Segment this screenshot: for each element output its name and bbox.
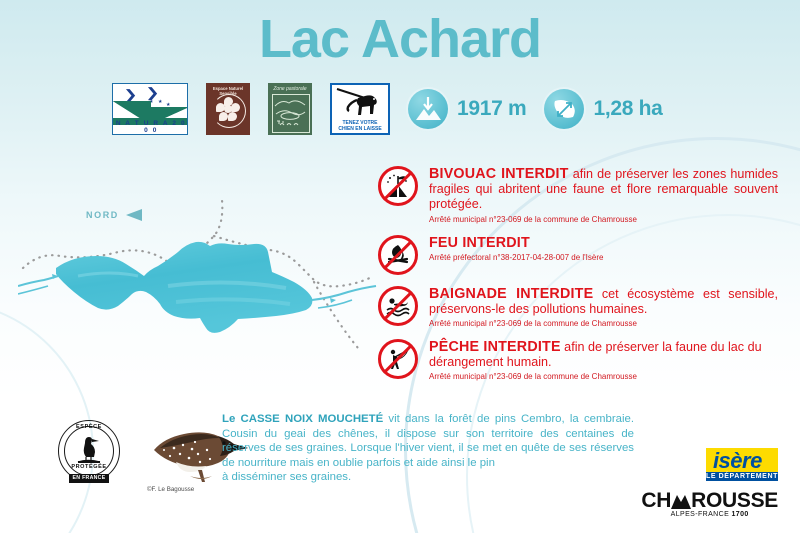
badge-row: ❯ ❯ ★ ★ ★ ★ ★ N A T U R A 2 0 0 0 Espace…	[112, 83, 663, 135]
dog-on-leash-badge: TENEZ VOTRE CHIEN EN LAISSE	[330, 83, 390, 135]
natura-2000-badge: ❯ ❯ ★ ★ ★ ★ ★ N A T U R A 2 0 0 0	[112, 83, 188, 135]
chamrousse-altitude: 1700	[732, 511, 749, 518]
lake-map-svg	[18, 190, 378, 390]
poster-canvas: Lac Achard ❯ ❯ ★ ★ ★ ★ ★ N A T U R A 2 0…	[0, 0, 800, 533]
goose-icon: ❯	[123, 88, 137, 101]
rule-reference: Arrêté préfectoral n°38-2017-04-28-007 d…	[429, 252, 754, 262]
rule-heading: PÊCHE INTERDITE	[429, 339, 561, 355]
chamrousse-word-a: CH	[641, 489, 671, 512]
dog-badge-text: TENEZ VOTRE CHIEN EN LAISSE	[332, 120, 388, 132]
rule-text: BIVOUAC INTERDIT afin de préserver les z…	[429, 166, 778, 224]
rule-paragraph: BAIGNADE INTERDITE cet écosystème est se…	[429, 287, 778, 317]
goose-icon: ❯	[145, 86, 159, 99]
compass-label: NORD	[86, 210, 119, 220]
protected-species-badge: ESPÈCE PROTÉGÉE EN FRANCE	[58, 420, 120, 482]
rule-reference: Arrêté municipal n°23-069 de la commune …	[429, 214, 754, 224]
altitude-icon	[408, 89, 448, 129]
isere-logo[interactable]: isère LE DÉPARTEMENT	[706, 448, 778, 481]
natura-2000-label: N A T U R A 2 0 0 0	[113, 120, 188, 134]
species-paragraph-last: à disséminer ses graines.	[222, 470, 634, 485]
area-stat: 1,28 ha	[544, 89, 662, 129]
rule-text: PÊCHE INTERDITE afin de préserver la fau…	[429, 339, 778, 381]
no-fire-icon	[378, 235, 418, 275]
rule-reference: Arrêté municipal n°23-069 de la commune …	[429, 371, 754, 381]
rules-list: BIVOUAC INTERDIT afin de préserver les z…	[378, 166, 778, 392]
rule-text: FEU INTERDIT Arrêté préfectoral n°38-201…	[429, 235, 778, 275]
page-title: Lac Achard	[0, 8, 800, 70]
rule-item: BIVOUAC INTERDIT afin de préserver les z…	[378, 166, 778, 224]
zone-pastorale-badge: Zone pastorale	[268, 83, 312, 135]
dog-badge-line2: CHIEN EN LAISSE	[338, 126, 381, 132]
no-bivouac-icon	[378, 166, 418, 206]
area-arrow-glyph	[544, 89, 584, 129]
espace-naturel-sensible-badge: Espace Naturel Sensible	[206, 83, 250, 135]
rule-reference: Arrêté municipal n°23-069 de la commune …	[429, 318, 754, 328]
species-description: Le CASSE NOIX MOUCHETÉ vit dans la forêt…	[222, 412, 634, 485]
protected-badge-ribbon: EN FRANCE	[69, 474, 109, 483]
rule-text: BAIGNADE INTERDITE cet écosystème est se…	[429, 286, 778, 328]
chamrousse-logo[interactable]: CHROUSSE ALPES-FRANCE 1700	[641, 489, 778, 518]
zone-pastorale-label: Zone pastorale	[268, 86, 312, 92]
species-paragraph: Le CASSE NOIX MOUCHETÉ vit dans la forêt…	[222, 412, 634, 470]
lake-map: NORD	[18, 190, 378, 390]
rule-heading: BIVOUAC INTERDIT	[429, 166, 569, 182]
isere-subtitle: LE DÉPARTEMENT	[706, 472, 778, 481]
species-heading: Le CASSE NOIX MOUCHETÉ	[222, 413, 383, 425]
protected-badge-top-text: ESPÈCE	[58, 424, 120, 430]
rule-paragraph: PÊCHE INTERDITE afin de préserver la fau…	[429, 340, 778, 370]
rule-item: BAIGNADE INTERDITE cet écosystème est se…	[378, 286, 778, 328]
altitude-value: 1917 m	[457, 97, 526, 121]
rule-heading: FEU INTERDIT	[429, 235, 530, 251]
rule-paragraph: FEU INTERDIT	[429, 236, 778, 251]
compass-arrow-icon	[126, 209, 142, 221]
chamrousse-word-b: ROUSSE	[691, 489, 778, 512]
dog-on-leash-icon	[335, 87, 387, 123]
flower-icon	[215, 97, 241, 123]
chamrousse-wordmark: CHROUSSE	[641, 489, 778, 512]
rule-heading: BAIGNADE INTERDITE	[429, 286, 593, 302]
mountain-arrow-glyph	[408, 89, 448, 129]
no-swimming-icon	[378, 286, 418, 326]
no-fishing-icon	[378, 339, 418, 379]
pasture-scene-icon	[272, 94, 308, 131]
heron-icon	[72, 435, 106, 465]
mountain-peak-icon	[671, 491, 691, 514]
area-icon	[544, 89, 584, 129]
photo-credit: ©F. Le Bagousse	[147, 486, 194, 493]
chamrousse-subtitle: ALPES-FRANCE 1700	[641, 511, 778, 518]
area-value: 1,28 ha	[593, 97, 662, 121]
rule-paragraph: BIVOUAC INTERDIT afin de préserver les z…	[429, 167, 778, 213]
rule-item: FEU INTERDIT Arrêté préfectoral n°38-201…	[378, 235, 778, 275]
isere-wordmark: isère	[713, 450, 771, 472]
altitude-stat: 1917 m	[408, 89, 526, 129]
rule-item: PÊCHE INTERDITE afin de préserver la fau…	[378, 339, 778, 381]
